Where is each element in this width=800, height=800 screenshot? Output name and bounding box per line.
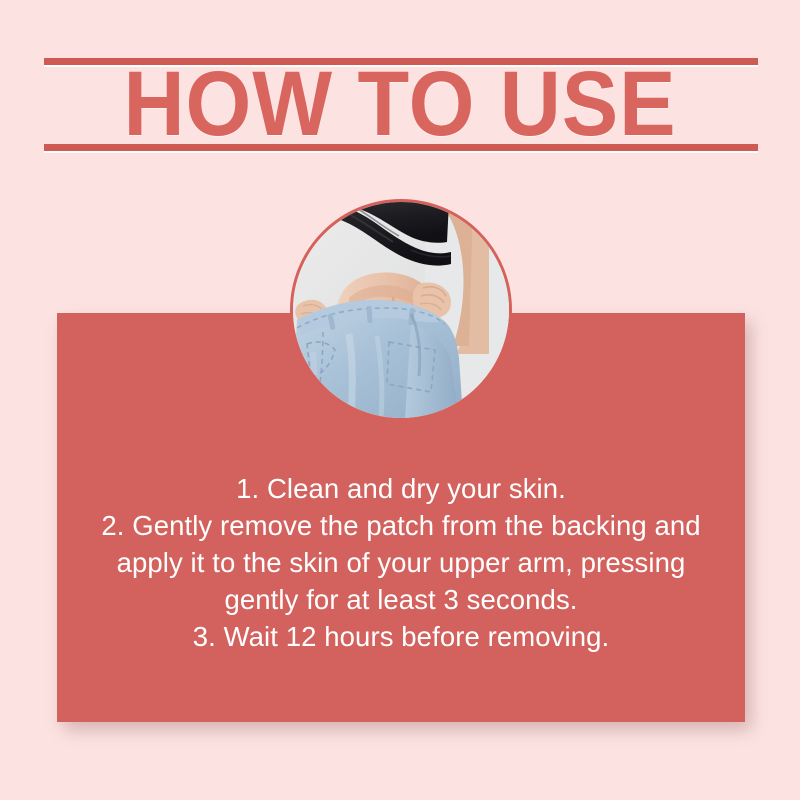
step-line: apply it to the skin of your upper arm, … (57, 544, 745, 581)
hero-photo-circle (290, 199, 512, 421)
page-title: HOW TO USE (32, 62, 768, 146)
step-line: 2. Gently remove the patch from the back… (57, 507, 745, 544)
step-line: 1. Clean and dry your skin. (57, 470, 745, 507)
step-line: 3. Wait 12 hours before removing. (57, 618, 745, 655)
instruction-steps: 1. Clean and dry your skin. 2. Gently re… (57, 470, 745, 655)
how-to-use-poster: HOW TO USE 1. Clean and dry your skin. 2… (0, 0, 800, 800)
title-rule-bottom (44, 144, 758, 153)
step-line: gently for at least 3 seconds. (57, 581, 745, 618)
header: HOW TO USE (0, 0, 800, 175)
weight-loss-photo (293, 202, 509, 418)
